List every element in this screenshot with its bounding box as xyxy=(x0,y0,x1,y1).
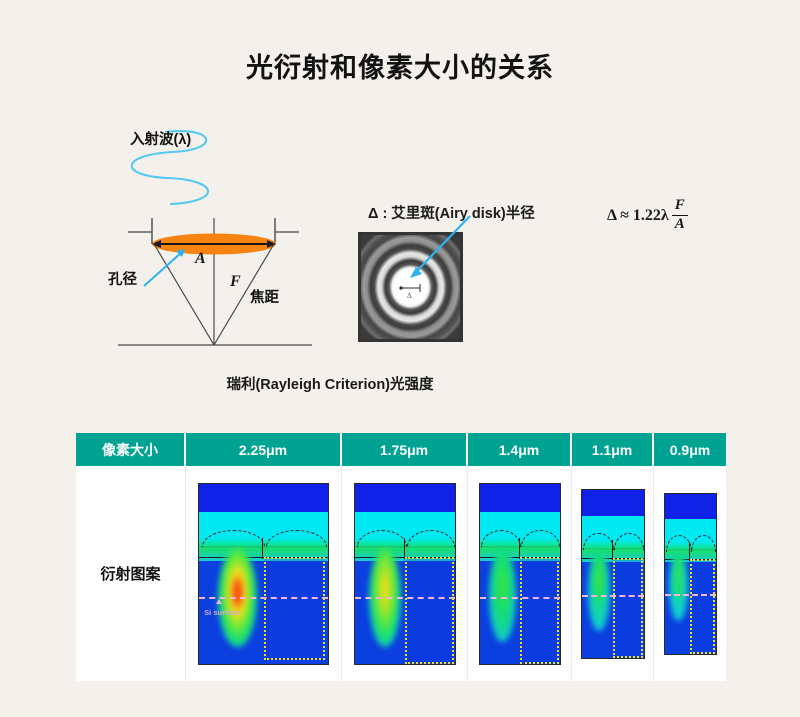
diffraction-panel-11um xyxy=(581,489,645,659)
panel-pixel-boundary-box xyxy=(520,557,559,663)
panel-beam-hotspot xyxy=(588,550,610,631)
table-header-row: 像素大小 2.25μm 1.75μm 1.4μm 1.1μm 0.9μm xyxy=(76,433,726,466)
panel-pixel-boundary-box xyxy=(690,559,715,653)
panel-beam-hotspot xyxy=(489,548,516,642)
table-header-175um: 1.75μm xyxy=(342,433,468,466)
incident-wave-label: 入射波(λ) xyxy=(130,128,191,149)
page-title: 光衍射和像素大小的关系 xyxy=(0,46,800,85)
panel-beam-hotspot xyxy=(669,551,688,621)
optical-diagram: 入射波(λ) 孔径 焦距 A F xyxy=(100,118,360,368)
panel-top-band xyxy=(582,490,644,517)
table-cell-pattern-14um xyxy=(468,466,572,681)
table-header-225um: 2.25μm xyxy=(186,433,342,466)
airy-disk-formula: Δ ≈ 1.22λ F A xyxy=(607,198,688,233)
panel-top-band xyxy=(199,484,328,513)
panel-si-surface-line xyxy=(665,594,716,596)
panel-pixel-boundary-box xyxy=(264,557,326,660)
aperture-symbol-label: A xyxy=(195,250,206,268)
table-header-pixel-size: 像素大小 xyxy=(76,433,186,466)
aperture-label: 孔径 xyxy=(108,268,137,289)
pixel-size-table: 像素大小 2.25μm 1.75μm 1.4μm 1.1μm 0.9μm 衍射图… xyxy=(76,433,726,681)
diffraction-panel-14um xyxy=(479,483,561,665)
table-cell-pattern-11um xyxy=(572,466,654,681)
focal-length-label: 焦距 xyxy=(250,286,279,307)
table-cell-pattern-09um xyxy=(654,466,726,681)
airy-callout-arrow xyxy=(398,212,488,287)
panel-center-divider xyxy=(404,538,405,560)
panel-si-surface-line xyxy=(355,597,455,599)
table-header-11um: 1.1μm xyxy=(572,433,654,466)
diffraction-panel-175um xyxy=(354,483,456,665)
page-root: 光衍射和像素大小的关系 入射波(λ) xyxy=(0,0,800,717)
airy-formula-denominator: A xyxy=(672,217,688,233)
focal-symbol-label: F xyxy=(230,273,241,291)
panel-top-band xyxy=(665,494,716,520)
diffraction-panel-09um xyxy=(664,493,717,655)
table-header-14um: 1.4μm xyxy=(468,433,572,466)
airy-radius-symbol: Δ xyxy=(407,291,412,300)
panel-center-divider xyxy=(519,538,520,560)
table-cell-pattern-175um xyxy=(342,466,468,681)
airy-formula-prefix: Δ ≈ 1.22λ xyxy=(607,207,669,225)
panel-center-divider xyxy=(262,538,263,560)
table-body-row: 衍射图案 Si surface xyxy=(76,466,726,681)
optical-diagram-svg xyxy=(100,118,360,368)
panel-pixel-boundary-box xyxy=(613,558,643,657)
panel-si-surface-label: Si surface xyxy=(204,608,240,617)
airy-formula-numerator: F xyxy=(672,198,688,214)
table-cell-pattern-225um: Si surface xyxy=(186,466,342,681)
panel-center-divider xyxy=(612,540,613,560)
panel-si-surface-arrow-icon xyxy=(216,599,222,604)
table-cell-row-label: 衍射图案 xyxy=(76,466,186,681)
rayleigh-criterion-caption: 瑞利(Rayleigh Criterion)光强度 xyxy=(0,373,660,394)
row-label-diffraction-pattern: 衍射图案 xyxy=(100,563,160,584)
panel-top-band xyxy=(355,484,455,513)
airy-formula-fraction: F A xyxy=(672,198,688,233)
panel-si-surface-line xyxy=(582,595,644,597)
panel-pixel-boundary-box xyxy=(405,557,454,663)
diffraction-panel-225um: Si surface xyxy=(198,483,329,665)
table-header-09um: 0.9μm xyxy=(654,433,726,466)
panel-top-band xyxy=(480,484,560,513)
panel-si-surface-line xyxy=(480,597,560,599)
panel-center-divider xyxy=(689,542,690,561)
